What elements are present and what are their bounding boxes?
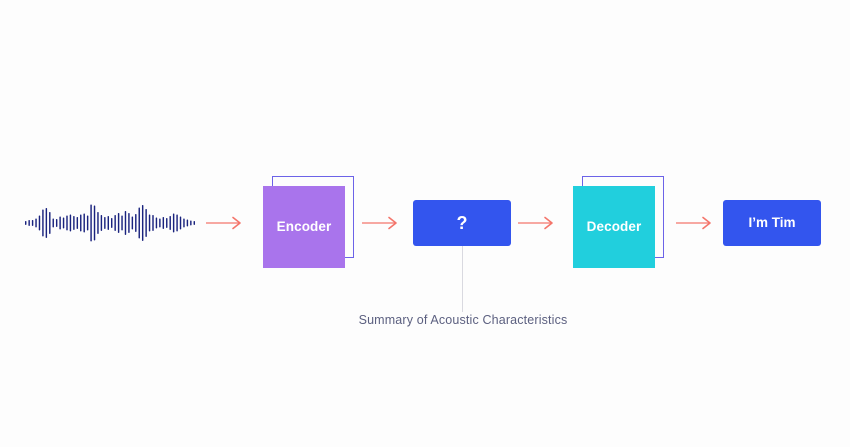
encoder-label: Encoder [277, 220, 332, 234]
annotation-caption: Summary of Acoustic Characteristics [263, 313, 663, 328]
audio-waveform-icon [24, 193, 196, 253]
decoder-label: Decoder [587, 220, 642, 234]
arrow-right-icon [518, 215, 558, 231]
arrow-right-icon [362, 215, 402, 231]
encoder-block[interactable]: Encoder [263, 176, 355, 268]
encoder-fill-square: Encoder [263, 186, 345, 268]
latent-representation-block[interactable]: ? [413, 200, 511, 246]
diagram-canvas: Encoder ? Decoder I’m Tim [0, 0, 850, 447]
arrow-right-icon [206, 215, 246, 231]
output-label: I’m Tim [748, 216, 795, 230]
annotation-leader-line [462, 246, 463, 312]
decoder-fill-square: Decoder [573, 186, 655, 268]
arrow-right-icon [676, 215, 716, 231]
latent-label: ? [457, 214, 468, 232]
decoder-block[interactable]: Decoder [573, 176, 665, 268]
output-transcript-block[interactable]: I’m Tim [723, 200, 821, 246]
